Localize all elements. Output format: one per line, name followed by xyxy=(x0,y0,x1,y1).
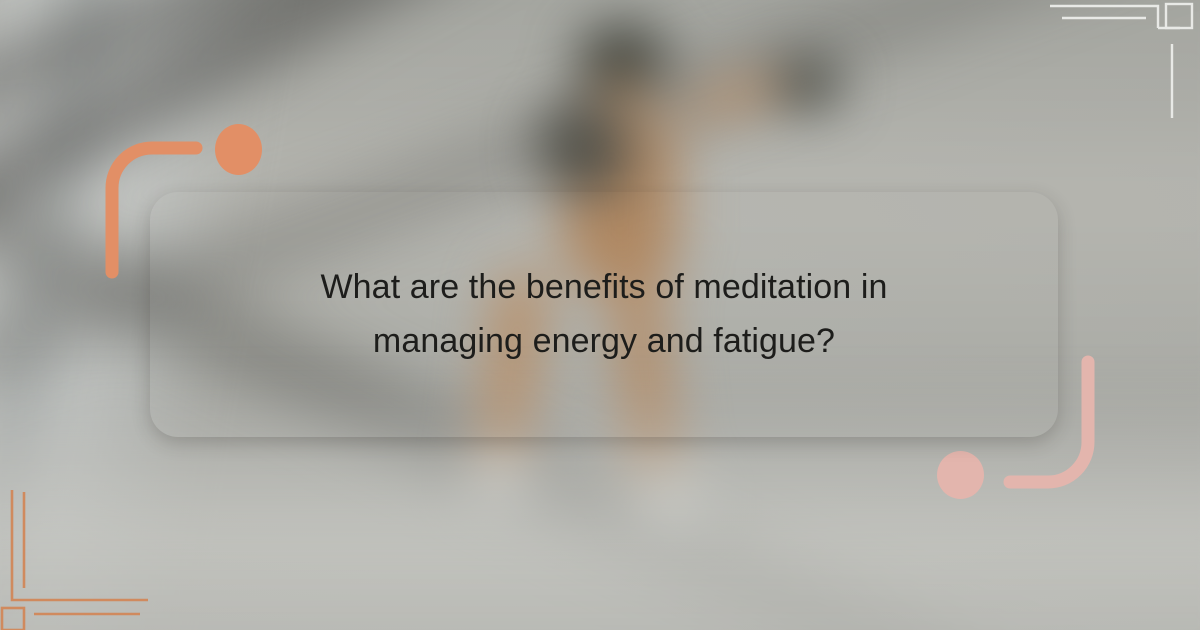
question-line-2: managing energy and fatigue? xyxy=(206,315,1002,369)
question-line-1: What are the benefits of meditation in xyxy=(206,261,1002,315)
accent-dot-bottom-right-icon xyxy=(937,451,984,499)
accent-dot-top-left-icon xyxy=(215,124,262,175)
question-card: What are the benefits of meditation in m… xyxy=(150,192,1058,437)
poster-canvas: What are the benefits of meditation in m… xyxy=(0,0,1200,630)
question-text: What are the benefits of meditation in m… xyxy=(150,261,1058,368)
